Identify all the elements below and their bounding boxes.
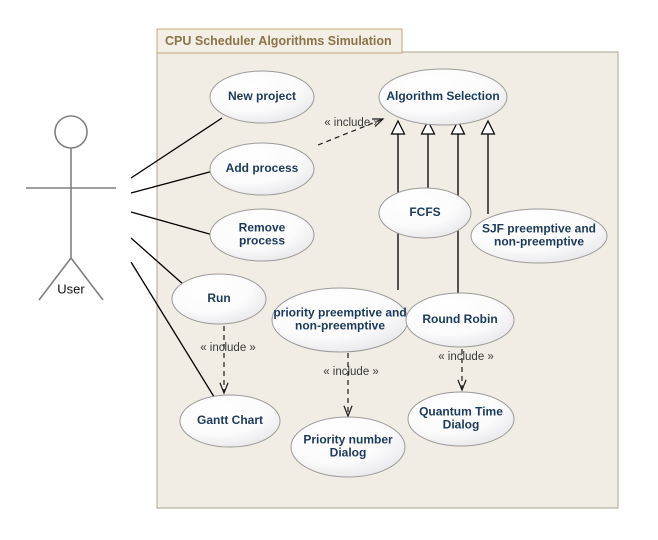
use-case-quantum-dialog[interactable]: Quantum TimeDialog (408, 392, 514, 446)
use-case-label-gantt-chart: Gantt Chart (197, 413, 263, 427)
use-case-label-round-robin: Round Robin (422, 312, 497, 326)
use-case-gantt-chart[interactable]: Gantt Chart (180, 395, 280, 447)
use-case-run[interactable]: Run (172, 274, 266, 324)
use-case-new-project[interactable]: New project (210, 71, 314, 123)
use-case-label-new-project: New project (228, 89, 296, 103)
diagram-svg: CPU Scheduler Algorithms Simulation User… (0, 0, 658, 540)
use-case-priority[interactable]: priority preemptive andnon-preemptive (272, 288, 408, 352)
actor-head (55, 116, 87, 148)
use-case-algorithm-selection[interactable]: Algorithm Selection (379, 69, 507, 125)
include-label: « include » (324, 117, 380, 129)
use-case-label-run: Run (207, 291, 230, 305)
use-case-add-process[interactable]: Add process (210, 143, 314, 195)
actor-label: User (57, 281, 85, 296)
use-case-label-add-process: Add process (226, 161, 299, 175)
use-case-round-robin[interactable]: Round Robin (406, 293, 514, 347)
frame-title-label: CPU Scheduler Algorithms Simulation (165, 34, 392, 48)
use-case-label-algorithm-selection: Algorithm Selection (386, 89, 499, 103)
include-label: « include » (438, 351, 494, 363)
actor-user[interactable]: User (26, 116, 116, 300)
use-case-sjf[interactable]: SJF preemptive andnon-preemptive (471, 209, 607, 263)
include-label: « include » (323, 366, 379, 378)
use-case-label-sjf: SJF preemptive andnon-preemptive (482, 222, 596, 249)
use-case-diagram-canvas: CPU Scheduler Algorithms Simulation User… (0, 0, 658, 540)
use-case-priority-dialog[interactable]: Priority numberDialog (291, 417, 405, 477)
use-case-label-fcfs: FCFS (409, 205, 440, 219)
use-case-label-remove-process: Removeprocess (239, 221, 286, 248)
use-case-fcfs[interactable]: FCFS (379, 188, 471, 238)
use-case-remove-process[interactable]: Removeprocess (210, 209, 314, 261)
include-label: « include » (200, 342, 256, 354)
